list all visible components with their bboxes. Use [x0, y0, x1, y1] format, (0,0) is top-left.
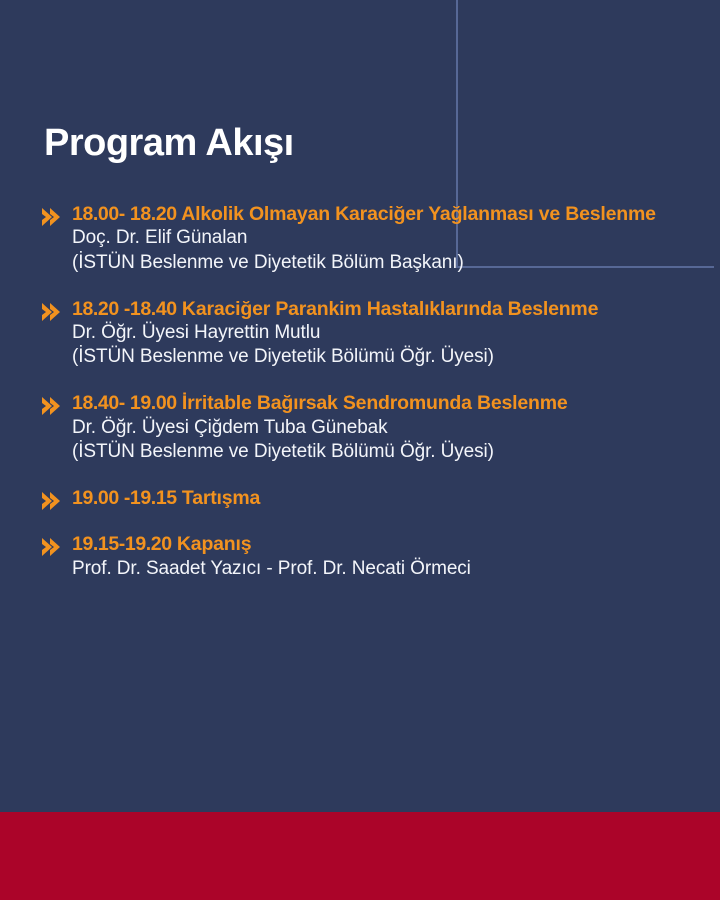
- chevron-right-icon: [40, 394, 64, 418]
- program-item: 18.40- 19.00 İrritable Bağırsak Sendromu…: [40, 391, 720, 464]
- entry-topic: Karaciğer Parankim Hastalıklarında Besle…: [177, 298, 599, 320]
- program-item: 18.00- 18.20 Alkolik Olmayan Karaciğer Y…: [40, 202, 720, 275]
- entry-speaker: Doç. Dr. Elif Günalan: [72, 226, 720, 250]
- entry-topic: İrritable Bağırsak Sendromunda Beslenme: [177, 392, 568, 414]
- entry-time: 19.15-19.20: [72, 533, 172, 555]
- program-poster: Program Akışı 18.00- 18.20 Alkolik Olmay…: [0, 0, 720, 900]
- entry-time: 18.00- 18.20: [72, 203, 177, 225]
- entry-affiliation: (İSTÜN Beslenme ve Diyetetik Bölümü Öğr.…: [72, 345, 720, 369]
- bottom-color-band: [0, 812, 720, 900]
- entry-speaker: Prof. Dr. Saadet Yazıcı - Prof. Dr. Neca…: [72, 557, 720, 581]
- entry-topic: Tartışma: [177, 487, 260, 509]
- page-title: Program Akışı: [44, 123, 294, 165]
- entry-time: 19.00 -19.15: [72, 487, 177, 509]
- chevron-right-icon: [40, 205, 64, 229]
- entry-time: 18.40- 19.00: [72, 392, 177, 414]
- entry-heading: 18.40- 19.00 İrritable Bağırsak Sendromu…: [72, 391, 720, 415]
- entry-time: 18.20 -18.40: [72, 298, 177, 320]
- entry-affiliation: (İSTÜN Beslenme ve Diyetetik Bölüm Başka…: [72, 251, 720, 275]
- program-item: 19.00 -19.15 Tartışma: [40, 486, 720, 510]
- chevron-right-icon: [40, 535, 64, 559]
- entry-heading: 18.00- 18.20 Alkolik Olmayan Karaciğer Y…: [72, 202, 720, 226]
- entry-topic: Kapanış: [172, 533, 252, 555]
- entry-heading: 19.15-19.20 Kapanış: [72, 532, 720, 556]
- entry-heading: 19.00 -19.15 Tartışma: [72, 486, 720, 510]
- program-item: 19.15-19.20 Kapanış Prof. Dr. Saadet Yaz…: [40, 532, 720, 581]
- entry-speaker: Dr. Öğr. Üyesi Hayrettin Mutlu: [72, 321, 720, 345]
- entry-heading: 18.20 -18.40 Karaciğer Parankim Hastalık…: [72, 297, 720, 321]
- chevron-right-icon: [40, 300, 64, 324]
- entry-affiliation: (İSTÜN Beslenme ve Diyetetik Bölümü Öğr.…: [72, 440, 720, 464]
- program-list: 18.00- 18.20 Alkolik Olmayan Karaciğer Y…: [40, 202, 720, 581]
- entry-speaker: Dr. Öğr. Üyesi Çiğdem Tuba Günebak: [72, 416, 720, 440]
- entry-topic: Alkolik Olmayan Karaciğer Yağlanması ve …: [177, 203, 656, 225]
- chevron-right-icon: [40, 489, 64, 513]
- program-item: 18.20 -18.40 Karaciğer Parankim Hastalık…: [40, 297, 720, 370]
